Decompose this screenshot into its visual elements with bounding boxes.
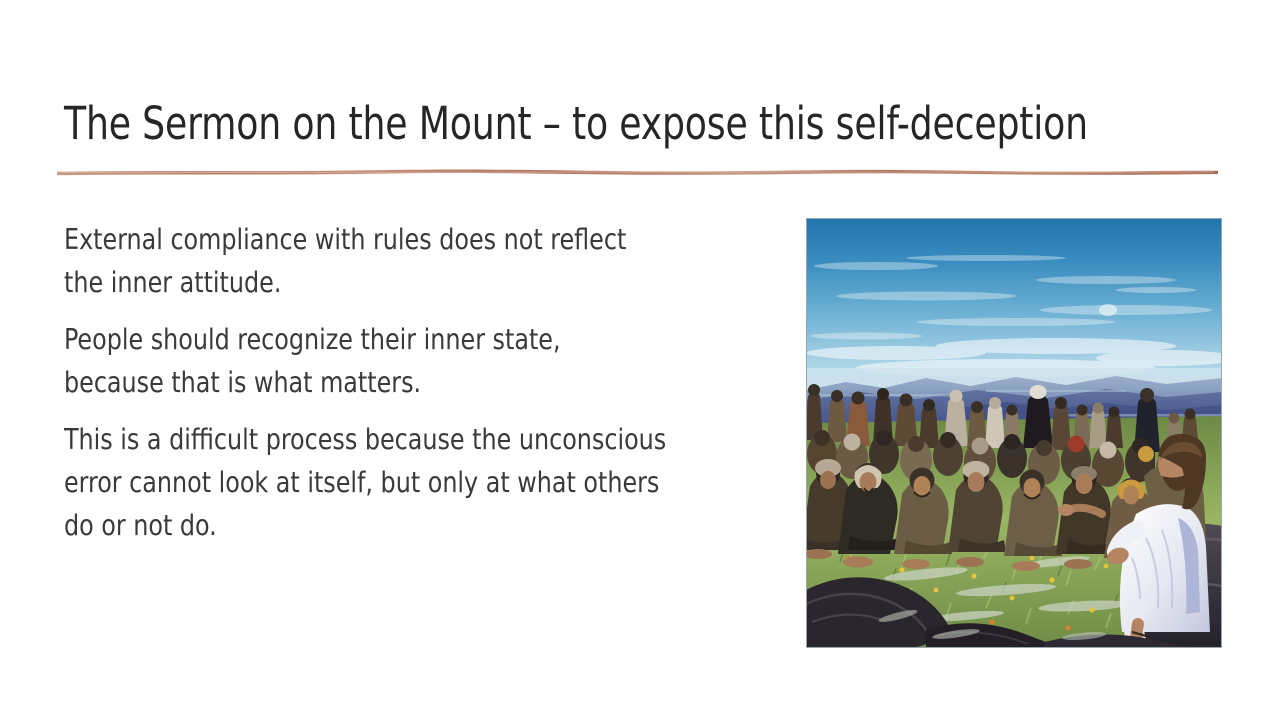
body-paragraph-1: External compliance with rules does not …: [64, 218, 715, 304]
brush-stroke-divider: [55, 163, 1220, 179]
sermon-on-the-mount-image: [806, 218, 1222, 648]
body-text-block: External compliance with rules does not …: [64, 218, 764, 547]
body-paragraph-3: This is a difficult process because the …: [64, 418, 715, 547]
title-block: The Sermon on the Mount – to expose this…: [64, 95, 1224, 165]
body-paragraph-2: People should recognize their inner stat…: [64, 318, 715, 404]
slide: The Sermon on the Mount – to expose this…: [0, 0, 1280, 720]
page-title: The Sermon on the Mount – to expose this…: [64, 95, 1102, 153]
